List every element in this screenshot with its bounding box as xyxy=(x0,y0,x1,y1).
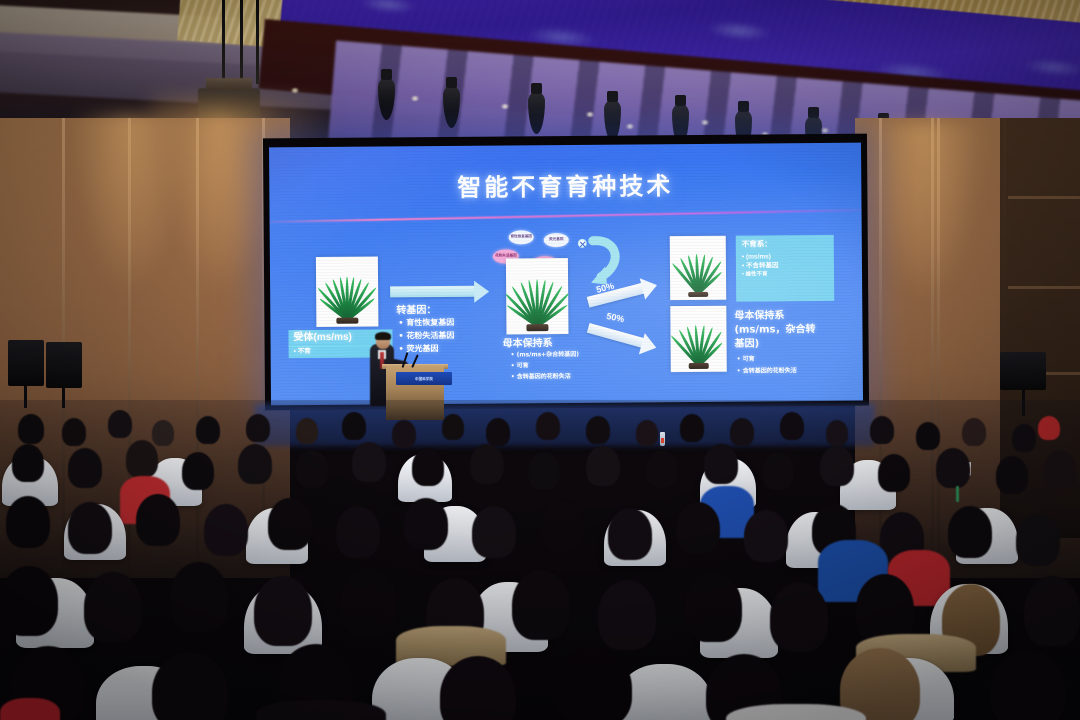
audience-torso-black xyxy=(256,700,386,720)
right-maintainer-subheading2: 基因) xyxy=(735,337,760,350)
audience-head xyxy=(916,422,940,450)
audience-head xyxy=(196,416,220,444)
audience-head xyxy=(608,508,652,560)
transgene-bullet: • 育性恢复基因 xyxy=(398,318,454,329)
maintainer-bullet: • 含转基因的花粉失活 xyxy=(511,373,571,381)
plant-photo-sterile xyxy=(670,236,727,300)
audience-head xyxy=(948,506,992,558)
right-maintainer-bullet: • 可育 xyxy=(737,356,755,364)
audience-head xyxy=(556,648,632,720)
audience-head xyxy=(238,444,272,484)
audience-head xyxy=(1044,450,1076,488)
title-divider xyxy=(270,209,862,223)
audience-head xyxy=(990,650,1066,720)
right-maintainer-bullet: • 含转基因的花粉失活 xyxy=(737,367,797,375)
audience-head-redcap xyxy=(1038,416,1060,440)
led-screen-frame: 智能不育育种技术 受体(ms/ms xyxy=(263,134,869,411)
audience-head xyxy=(68,448,102,488)
audience-head xyxy=(540,500,584,552)
audience-head xyxy=(820,446,854,486)
stage-monitor-left-2 xyxy=(46,342,82,388)
speaker-hair xyxy=(375,332,391,340)
sterile-line-infobox: 不育系： • (ms/ms) • 不含转基因 • 雄性不育 xyxy=(736,235,835,302)
audience-head xyxy=(152,420,174,446)
gene-pill-fertility-restore: 育性恢复基因 xyxy=(509,230,534,244)
audience-head xyxy=(342,412,366,440)
audience-head xyxy=(762,452,794,490)
audience-head xyxy=(12,444,44,482)
audience-head xyxy=(182,452,214,490)
transgene-bullet: • 花粉失活基因 xyxy=(398,331,454,342)
rigging-cable xyxy=(240,0,243,88)
audience-head xyxy=(598,580,656,650)
audience-head xyxy=(744,510,788,562)
audience-head xyxy=(412,448,444,486)
downlight-icon xyxy=(625,124,635,129)
audience-head xyxy=(108,410,132,438)
rigging-cable xyxy=(256,0,259,84)
audience-head xyxy=(486,418,510,446)
audience-head xyxy=(870,416,894,444)
right-maintainer-heading: 母本保持系 xyxy=(734,309,784,322)
audience-head xyxy=(680,414,704,442)
podium-banner: 中国科学院 xyxy=(396,372,452,385)
audience-head xyxy=(512,570,570,640)
audience-head xyxy=(352,442,386,482)
plant-photo-maintainer-right xyxy=(670,306,727,372)
maintainer-bullet: • 可育 xyxy=(511,362,529,370)
audience-head xyxy=(296,418,318,444)
audience-head xyxy=(204,504,248,556)
downlight-icon xyxy=(410,96,420,101)
maintainer-bullet: • (ms/ms+杂合转基因) xyxy=(511,351,579,359)
downlight-icon xyxy=(500,104,510,109)
audience-head xyxy=(6,496,50,548)
audience-head xyxy=(404,498,448,550)
audience-head xyxy=(84,572,142,642)
audience-head xyxy=(936,448,970,488)
slide-title: 智能不育育种技术 xyxy=(269,165,861,205)
right-maintainer-subheading: (ms/ms，杂合转 xyxy=(734,323,815,337)
audience-head xyxy=(1016,514,1060,566)
audience-head xyxy=(684,572,742,642)
audience-head xyxy=(536,412,560,440)
sterile-box-bullet: • 雄性不育 xyxy=(742,271,828,280)
audience-head xyxy=(126,440,158,478)
downlight-icon xyxy=(820,128,830,133)
audience-head xyxy=(646,450,678,488)
audience-head xyxy=(528,452,560,490)
audience-torso-red xyxy=(0,698,60,720)
audience-head xyxy=(636,420,658,446)
audience-head xyxy=(962,418,986,446)
downlight-icon xyxy=(585,112,595,117)
audience-head xyxy=(246,414,270,442)
audience-head xyxy=(392,420,416,448)
audience-head xyxy=(136,494,180,546)
audience-head xyxy=(170,562,228,632)
audience-head xyxy=(296,450,328,488)
self-cross-symbol xyxy=(578,239,587,248)
audience-head xyxy=(340,568,398,638)
audience-head xyxy=(1024,576,1080,646)
audience-head xyxy=(730,418,754,446)
gene-pill-fluorescence: 荧光基因 xyxy=(544,233,569,247)
audience-head xyxy=(442,414,464,440)
wall-shelf-line xyxy=(1008,196,1080,199)
audience-torso-white xyxy=(726,704,866,720)
audience-head xyxy=(470,444,504,484)
audience-head xyxy=(18,414,44,444)
audience-head xyxy=(878,454,910,492)
plant-photo-recipient xyxy=(316,256,379,326)
wall-shelf-line xyxy=(1008,286,1080,289)
audience-head xyxy=(254,576,312,646)
audience-head xyxy=(268,498,312,550)
audience-head xyxy=(780,412,804,440)
stage-monitor-right xyxy=(1000,352,1046,390)
audience-head xyxy=(676,502,720,554)
plant-photo-maintainer xyxy=(506,258,569,334)
audience-head xyxy=(996,456,1028,494)
downlight-icon xyxy=(700,120,710,125)
transgene-heading: 转基因： xyxy=(396,304,436,317)
conference-photo: 智能不育育种技术 受体(ms/ms xyxy=(0,0,1080,720)
sterile-box-heading: 不育系： xyxy=(742,239,828,251)
audience-head xyxy=(68,502,112,554)
audience-head xyxy=(586,446,620,486)
downlight-icon xyxy=(290,88,300,93)
audience-head xyxy=(0,566,58,636)
split-percentage-down: 50% xyxy=(606,311,626,324)
maintainer-heading: 母本保持系 xyxy=(503,337,553,350)
lanyard xyxy=(956,486,959,502)
audience-head xyxy=(826,420,848,446)
water-bottle xyxy=(660,432,665,446)
transgene-bullet: • 荧光基因 xyxy=(399,344,439,355)
audience-head xyxy=(62,418,86,446)
audience-head xyxy=(704,444,738,484)
audience-head xyxy=(586,416,610,444)
audience-head xyxy=(336,506,380,558)
stage-monitor-left xyxy=(8,340,44,386)
audience-head xyxy=(1012,424,1036,452)
presentation-slide: 智能不育育种技术 受体(ms/ms xyxy=(269,143,863,406)
audience-head xyxy=(472,506,516,558)
audience xyxy=(0,400,1080,720)
audience-head xyxy=(770,582,828,652)
